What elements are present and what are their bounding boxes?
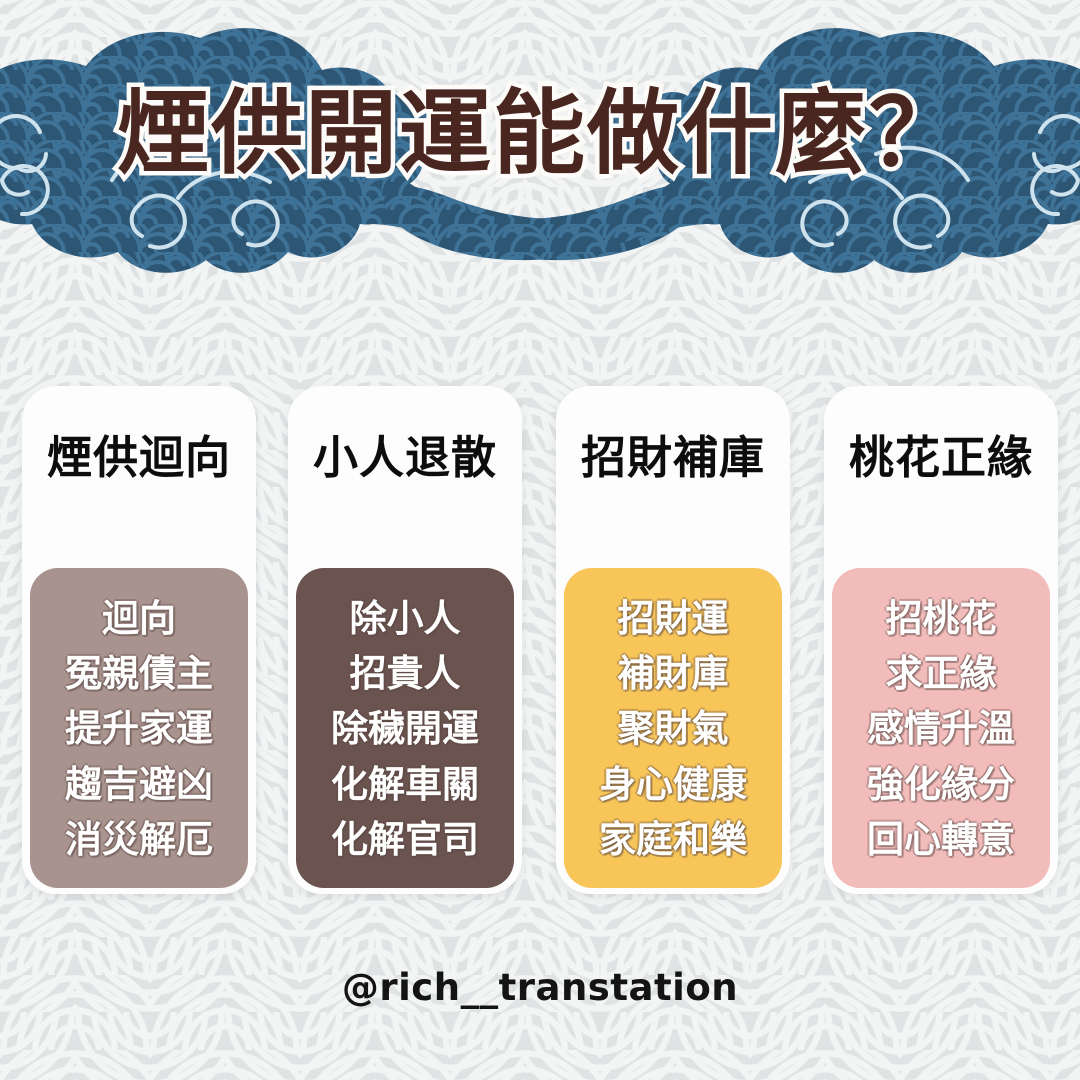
benefit-item: 趨吉避凶 <box>65 758 213 811</box>
card-benefit-box: 除小人 招貴人 除穢開運 化解車關 化解官司 <box>296 568 514 888</box>
benefit-item: 消災解厄 <box>65 813 213 866</box>
card-benefit-box: 迴向 冤親債主 提升家運 趨吉避凶 消災解厄 <box>30 568 248 888</box>
benefit-item: 感情升溫 <box>867 702 1015 755</box>
card-benefit-box: 招財運 補財庫 聚財氣 身心健康 家庭和樂 <box>564 568 782 888</box>
benefit-item: 招財運 <box>618 592 729 645</box>
benefit-item: 招貴人 <box>350 647 461 700</box>
card-zhaocai-buku[interactable]: 招財補庫 招財運 補財庫 聚財氣 身心健康 家庭和樂 <box>556 386 790 894</box>
benefit-item: 除穢開運 <box>331 702 479 755</box>
infographic-canvas: 煙供開運能做什麼？ 煙供迴向 迴向 冤親債主 提升家運 趨吉避凶 消災解厄 小人… <box>0 0 1080 1080</box>
benefit-item: 求正緣 <box>886 647 997 700</box>
benefit-item: 提升家運 <box>65 702 213 755</box>
card-title: 桃花正緣 <box>824 434 1058 481</box>
card-title: 招財補庫 <box>556 434 790 481</box>
benefit-item: 回心轉意 <box>867 813 1015 866</box>
benefit-item: 化解車關 <box>331 758 479 811</box>
card-xiaoren-tuisan[interactable]: 小人退散 除小人 招貴人 除穢開運 化解車關 化解官司 <box>288 386 522 894</box>
card-benefit-box: 招桃花 求正緣 感情升溫 強化緣分 回心轉意 <box>832 568 1050 888</box>
cards-row: 煙供迴向 迴向 冤親債主 提升家運 趨吉避凶 消災解厄 小人退散 除小人 招貴人… <box>0 386 1080 898</box>
account-handle: @rich__transtation <box>0 966 1080 1009</box>
benefit-item: 家庭和樂 <box>599 813 747 866</box>
card-yangong-huixiang[interactable]: 煙供迴向 迴向 冤親債主 提升家運 趨吉避凶 消災解厄 <box>22 386 256 894</box>
benefit-item: 強化緣分 <box>867 758 1015 811</box>
card-title: 小人退散 <box>288 434 522 481</box>
benefit-item: 招桃花 <box>886 592 997 645</box>
benefit-item: 化解官司 <box>331 813 479 866</box>
benefit-item: 補財庫 <box>618 647 729 700</box>
card-taohua-zhengyuan[interactable]: 桃花正緣 招桃花 求正緣 感情升溫 強化緣分 回心轉意 <box>824 386 1058 894</box>
card-title: 煙供迴向 <box>22 434 256 481</box>
benefit-item: 聚財氣 <box>618 702 729 755</box>
benefit-item: 除小人 <box>350 592 461 645</box>
page-title: 煙供開運能做什麼？ <box>0 88 1080 180</box>
benefit-item: 迴向 <box>102 592 176 645</box>
benefit-item: 身心健康 <box>599 758 747 811</box>
benefit-item: 冤親債主 <box>65 647 213 700</box>
